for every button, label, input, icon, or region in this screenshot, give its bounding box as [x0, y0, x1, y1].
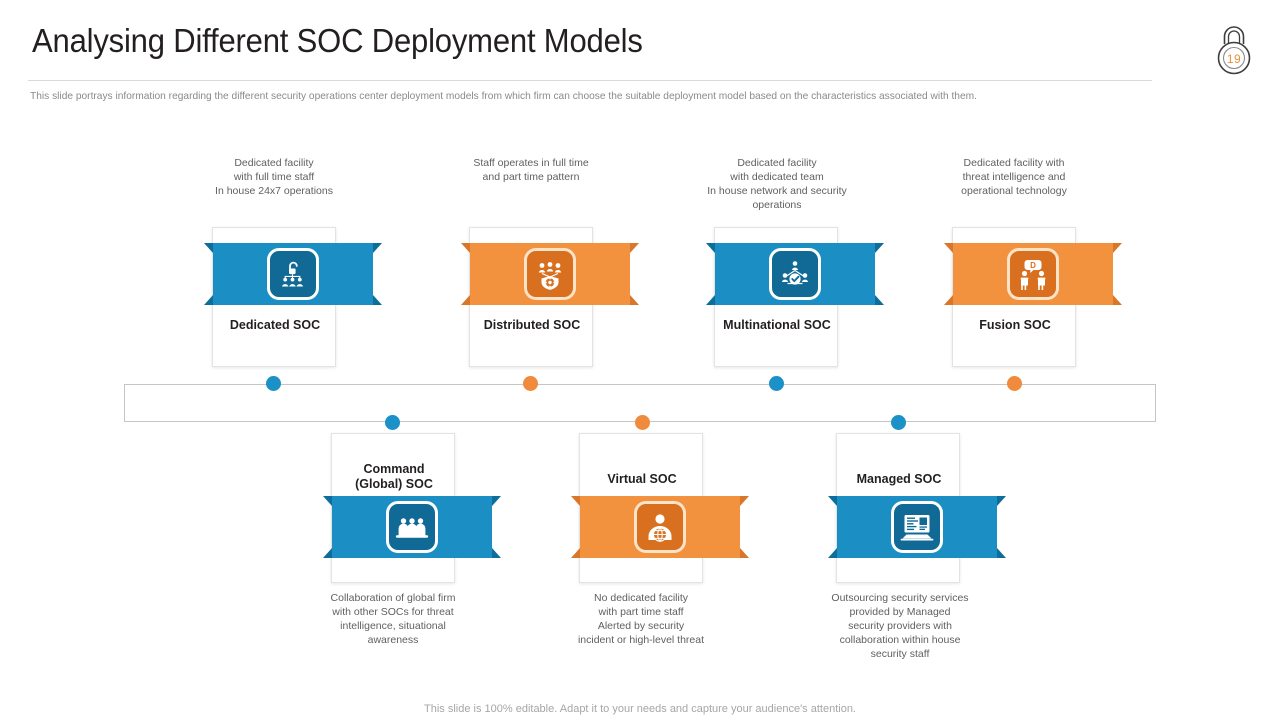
ribbon-tail-left	[461, 243, 470, 305]
ribbon-fusion-soc: D	[944, 243, 1122, 305]
ribbon-tail-left	[204, 243, 213, 305]
svg-text:D: D	[1030, 261, 1036, 270]
description-managed-soc: Outsourcing security services provided b…	[808, 591, 992, 661]
ribbon-managed-soc	[828, 496, 1006, 558]
padlock-icon: 19	[1206, 18, 1262, 82]
card-label: Command (Global) SOC	[318, 462, 470, 492]
team-network-check-icon	[769, 248, 821, 300]
card-label: Multinational SOC	[701, 318, 853, 333]
ribbon-tail-right	[740, 496, 749, 558]
connector-dot-managed	[891, 415, 906, 430]
card-label: Distributed SOC	[456, 318, 608, 333]
description-virtual-soc: No dedicated facility with part time sta…	[551, 591, 731, 647]
ribbon-tail-right	[492, 496, 501, 558]
connector-dot-command	[385, 415, 400, 430]
ribbon-tail-right	[630, 243, 639, 305]
description-fusion-soc: Dedicated facility with threat intellige…	[925, 156, 1103, 198]
ribbon-virtual-soc	[571, 496, 749, 558]
person-with-globe-icon	[634, 501, 686, 553]
description-dedicated-soc: Dedicated facility with full time staff …	[186, 156, 362, 198]
card-label: Virtual SOC	[566, 472, 718, 487]
connector-dot-dedicated	[266, 376, 281, 391]
footer-note: This slide is 100% editable. Adapt it to…	[0, 703, 1280, 715]
ribbon-distributed-soc	[461, 243, 639, 305]
page-subtitle: This slide portrays information regardin…	[30, 90, 1126, 102]
header-divider	[28, 80, 1152, 81]
page-title: Analysing Different SOC Deployment Model…	[32, 22, 643, 60]
ribbon-tail-left	[828, 496, 837, 558]
group-of-people-icon	[386, 501, 438, 553]
team-with-gear-shield-icon	[524, 248, 576, 300]
two-people-discussion-icon: D	[1007, 248, 1059, 300]
ribbon-multinational-soc	[706, 243, 884, 305]
ribbon-tail-left	[323, 496, 332, 558]
ribbon-tail-left	[571, 496, 580, 558]
card-label: Dedicated SOC	[199, 318, 351, 333]
connector-dot-distributed	[523, 376, 538, 391]
unlocked-padlock-with-team-icon	[267, 248, 319, 300]
ribbon-tail-right	[373, 243, 382, 305]
ribbon-tail-right	[875, 243, 884, 305]
ribbon-dedicated-soc	[204, 243, 382, 305]
description-distributed-soc: Staff operates in full time and part tim…	[443, 156, 619, 184]
connector-dot-virtual	[635, 415, 650, 430]
card-label: Fusion SOC	[939, 318, 1091, 333]
ribbon-tail-left	[706, 243, 715, 305]
badge-number: 19	[1206, 52, 1262, 66]
ribbon-tail-right	[997, 496, 1006, 558]
card-label: Managed SOC	[823, 472, 975, 487]
ribbon-tail-left	[944, 243, 953, 305]
description-command-global-soc: Collaboration of global firm with other …	[303, 591, 483, 647]
description-multinational-soc: Dedicated facility with dedicated team I…	[686, 156, 868, 212]
ribbon-tail-right	[1113, 243, 1122, 305]
monitor-screen-icon	[891, 501, 943, 553]
ribbon-command-global-soc	[323, 496, 501, 558]
connector-dot-multinational	[769, 376, 784, 391]
connector-dot-fusion	[1007, 376, 1022, 391]
